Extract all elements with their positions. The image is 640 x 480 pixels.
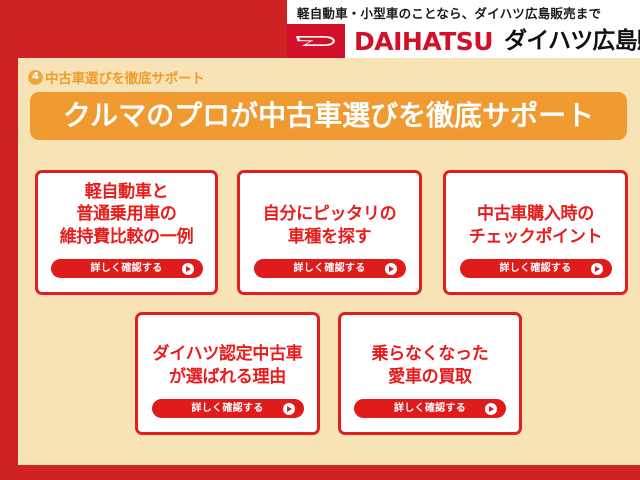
play-arrow-icon: [283, 403, 295, 415]
card-title-line: 維持費比較の一例: [60, 226, 194, 248]
card-title: 中古車購入時の チェックポイント: [469, 203, 603, 248]
card-title-line: 車種を探す: [263, 226, 397, 248]
card-certified-used-car-reasons[interactable]: ダイハツ認定中古車 が選ばれる理由 詳しく確認する: [135, 312, 320, 435]
section-heading-label: 中古車選びを徹底サポート: [45, 67, 205, 87]
card-title-line: 軽自動車と: [60, 181, 194, 203]
section-heading: 4 中古車選びを徹底サポート: [28, 67, 205, 87]
card-cta-button[interactable]: 詳しく確認する: [354, 399, 506, 418]
daihatsu-emblem-icon: [294, 30, 338, 52]
card-cta-button[interactable]: 詳しく確認する: [51, 259, 203, 278]
header-band: 軽自動車・小型車のことなら、ダイハツ広島販売まで DAIHATSU ダイハツ広島…: [287, 0, 640, 58]
content-panel: 4 中古車選びを徹底サポート クルマのプロが中古車選びを徹底サポート 軽自動車と…: [18, 58, 640, 465]
card-title-line: ダイハツ認定中古車: [153, 343, 303, 365]
card-cta-label: 詳しく確認する: [90, 264, 162, 274]
card-title: 軽自動車と 普通乗用車の 維持費比較の一例: [60, 181, 194, 248]
brand-latin-wordmark: DAIHATSU: [345, 29, 493, 54]
card-purchase-checkpoints[interactable]: 中古車購入時の チェックポイント 詳しく確認する: [443, 170, 628, 295]
card-cta-label: 詳しく確認する: [293, 264, 365, 274]
daihatsu-logo-block: [287, 24, 345, 58]
headline-banner-text: クルマのプロが中古車選びを徹底サポート: [63, 102, 594, 130]
card-cta-button[interactable]: 詳しく確認する: [460, 259, 612, 278]
card-title-line: 乗らなくなった: [372, 343, 489, 365]
play-arrow-icon: [385, 263, 397, 275]
card-cta-label: 詳しく確認する: [191, 404, 263, 414]
card-car-buyback[interactable]: 乗らなくなった 愛車の買取 詳しく確認する: [338, 312, 522, 435]
headline-banner: クルマのプロが中古車選びを徹底サポート: [30, 92, 627, 140]
card-maintenance-cost-comparison[interactable]: 軽自動車と 普通乗用車の 維持費比較の一例 詳しく確認する: [35, 170, 218, 295]
card-cta-button[interactable]: 詳しく確認する: [152, 399, 304, 418]
brand-japanese-wordmark: ダイハツ広島販売: [493, 30, 640, 53]
page-root: 軽自動車・小型車のことなら、ダイハツ広島販売まで DAIHATSU ダイハツ広島…: [0, 0, 640, 480]
play-arrow-icon: [591, 263, 603, 275]
play-arrow-icon: [182, 263, 194, 275]
card-cta-label: 詳しく確認する: [499, 264, 571, 274]
card-title: 自分にピッタリの 車種を探す: [263, 203, 397, 248]
card-title-line: が選ばれる理由: [153, 366, 303, 388]
card-title-line: 自分にピッタリの: [263, 203, 397, 225]
card-title-line: 愛車の買取: [372, 366, 489, 388]
card-title-line: 普通乗用車の: [60, 203, 194, 225]
header-tagline: 軽自動車・小型車のことなら、ダイハツ広島販売まで: [297, 4, 634, 24]
card-cta-button[interactable]: 詳しく確認する: [254, 259, 406, 278]
card-title-line: 中古車購入時の: [469, 203, 603, 225]
step-number-badge: 4: [28, 70, 43, 85]
card-title: 乗らなくなった 愛車の買取: [372, 343, 489, 388]
card-find-your-model[interactable]: 自分にピッタリの 車種を探す 詳しく確認する: [237, 170, 422, 295]
card-title-line: チェックポイント: [469, 226, 603, 248]
card-title: ダイハツ認定中古車 が選ばれる理由: [153, 343, 303, 388]
header-brand-row: DAIHATSU ダイハツ広島販売: [287, 24, 640, 58]
card-cta-label: 詳しく確認する: [394, 404, 466, 414]
play-arrow-icon: [485, 403, 497, 415]
